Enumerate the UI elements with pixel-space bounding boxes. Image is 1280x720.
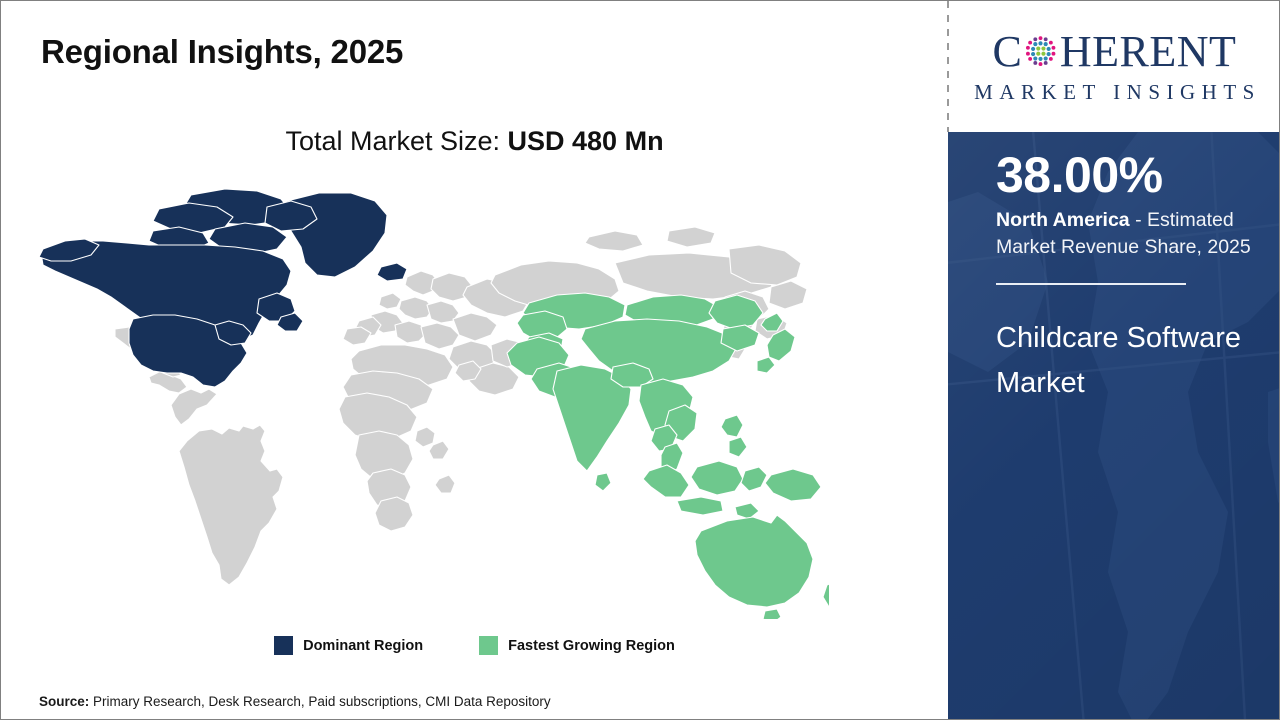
logo-wordmark: C [993, 30, 1237, 74]
legend-swatch-dominant [274, 636, 293, 655]
world-map [29, 179, 829, 619]
legend-label-fastest-growing: Fastest Growing Region [508, 638, 675, 654]
total-market-size-value: USD 480 Mn [508, 126, 664, 156]
total-market-size: Total Market Size: USD 480 Mn [1, 126, 948, 157]
source-text: Primary Research, Desk Research, Paid su… [89, 694, 550, 709]
panel-divider-rule [996, 283, 1186, 285]
revenue-share-value: 38.00% [996, 149, 1266, 202]
legend-label-dominant: Dominant Region [303, 638, 423, 654]
panel-content: 38.00% North America - Estimated Market … [996, 132, 1266, 406]
map-region-asia-pacific [507, 293, 829, 619]
dotted-globe-icon [1022, 33, 1059, 70]
map-region-north-america [39, 189, 407, 387]
source-label: Source: [39, 694, 89, 709]
revenue-share-caption: North America - Estimated Market Revenue… [996, 207, 1264, 262]
legend-item-fastest-growing: Fastest Growing Region [479, 636, 675, 655]
logo-wordmark-rest: HERENT [1060, 30, 1237, 74]
revenue-share-region: North America [996, 209, 1130, 231]
brand-logo: C [949, 2, 1280, 132]
left-content-panel: Regional Insights, 2025 Total Market Siz… [1, 1, 948, 719]
market-name: Childcare Software Market [996, 316, 1266, 406]
regional-insights-slide: Regional Insights, 2025 Total Market Siz… [0, 0, 1280, 720]
page-title: Regional Insights, 2025 [41, 33, 403, 71]
map-legend: Dominant Region Fastest Growing Region [1, 636, 948, 655]
legend-item-dominant: Dominant Region [274, 636, 423, 655]
legend-swatch-fastest-growing [479, 636, 498, 655]
highlight-panel: 38.00% North America - Estimated Market … [948, 132, 1280, 720]
logo-letter-c: C [993, 30, 1022, 74]
total-market-size-prefix: Total Market Size: [285, 126, 507, 156]
logo-tagline: MARKET INSIGHTS [968, 80, 1261, 105]
source-note: Source: Primary Research, Desk Research,… [39, 694, 551, 709]
